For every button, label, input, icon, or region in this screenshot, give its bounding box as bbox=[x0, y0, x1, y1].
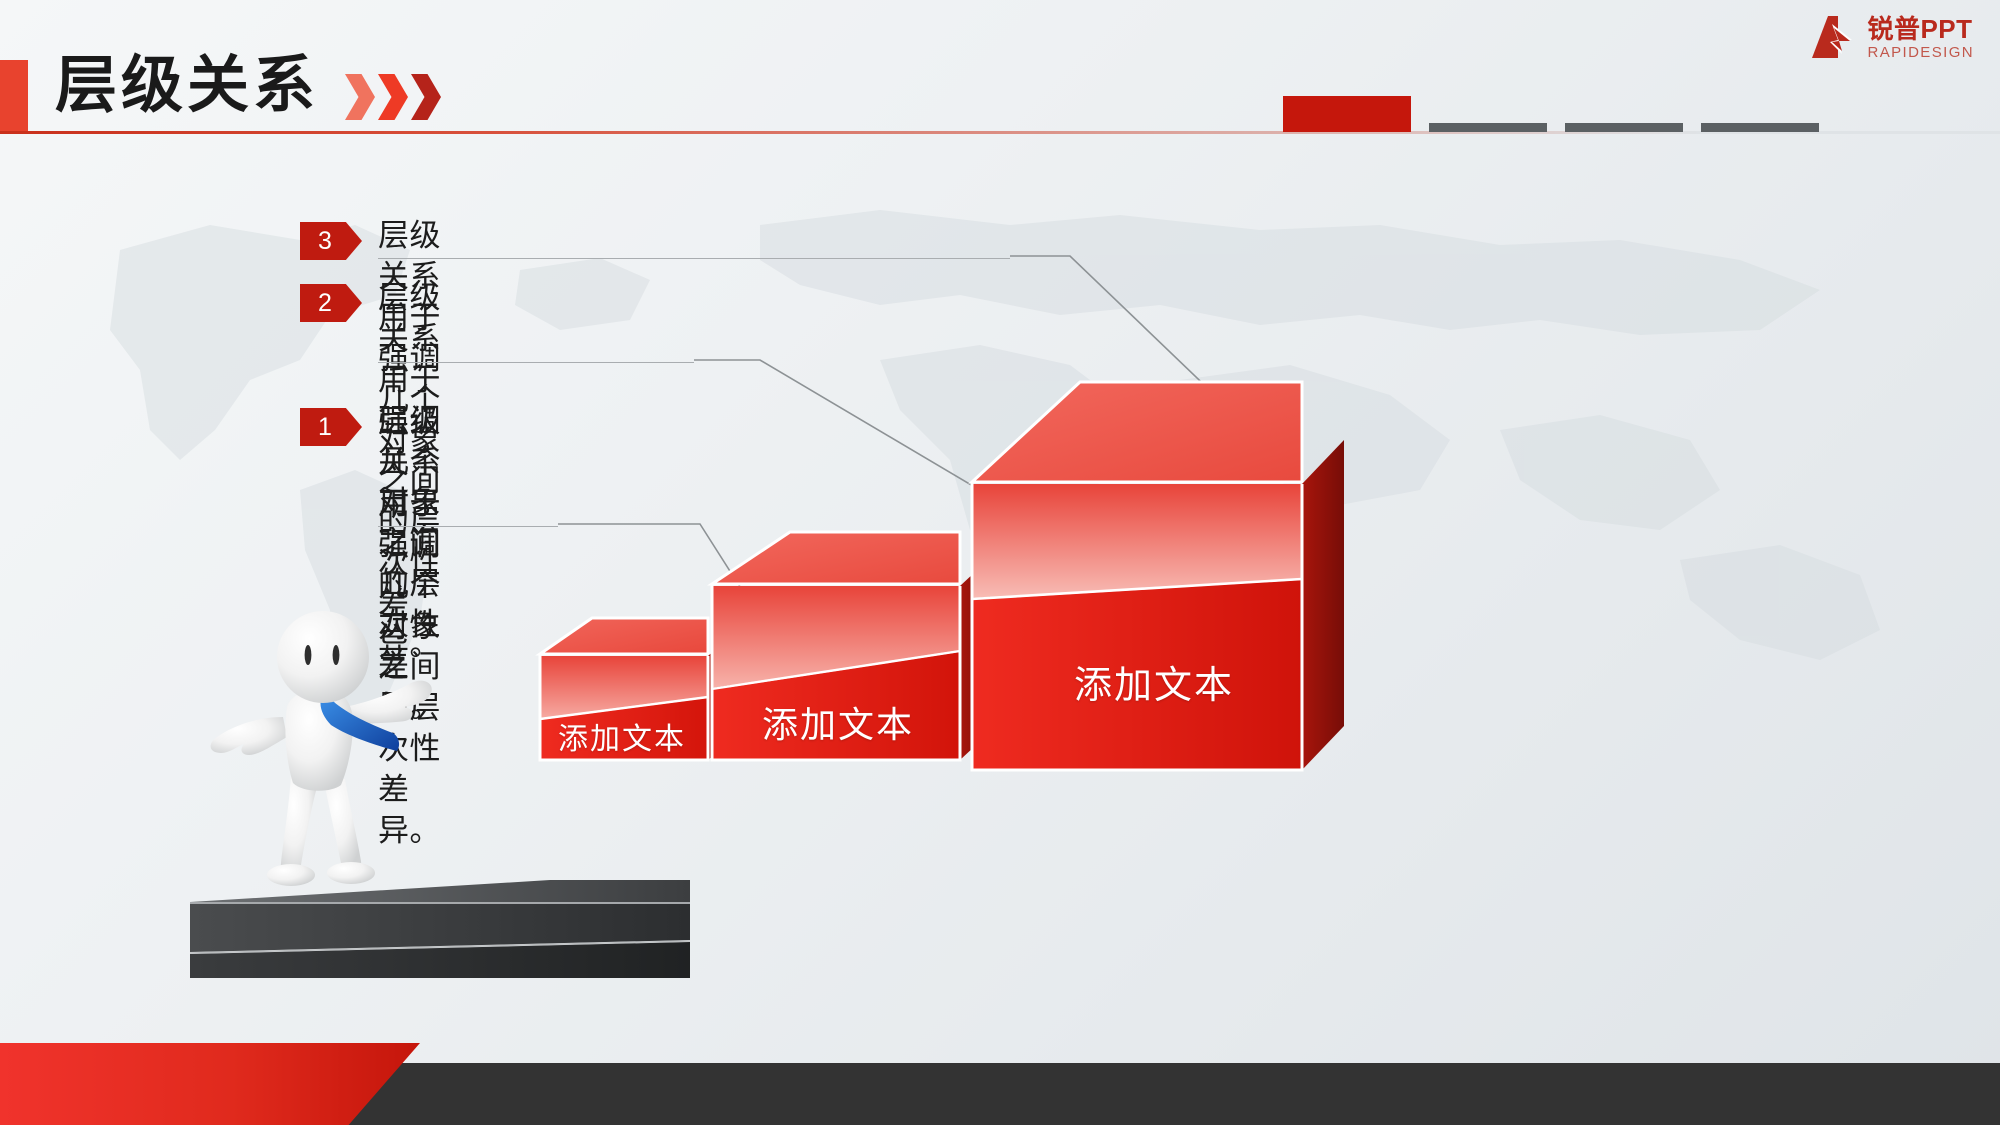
stage-platform bbox=[190, 880, 690, 985]
bullet-number-badge-1: 1 bbox=[300, 408, 362, 446]
footer-red-band bbox=[0, 1043, 420, 1125]
cube-small-label: 添加文本 bbox=[558, 714, 686, 758]
bullet-underline-1 bbox=[378, 526, 558, 527]
bullet-underline-3 bbox=[378, 258, 1010, 259]
cube-large-label: 添加文本 bbox=[1074, 654, 1234, 709]
cube-medium[interactable]: 添加文本 bbox=[712, 532, 1012, 822]
bullet-number-badge-3: 3 bbox=[300, 222, 362, 260]
cube-medium-label: 添加文本 bbox=[762, 696, 914, 748]
mannequin-figure bbox=[195, 595, 455, 895]
bullet-number-badge-2: 2 bbox=[300, 284, 362, 322]
slide-canvas: 层级关系 锐普PPT RAPIDESIGN bbox=[0, 0, 2000, 1125]
cube-large[interactable]: 添加文本 bbox=[972, 382, 1412, 802]
bullet-underline-2 bbox=[378, 362, 694, 363]
